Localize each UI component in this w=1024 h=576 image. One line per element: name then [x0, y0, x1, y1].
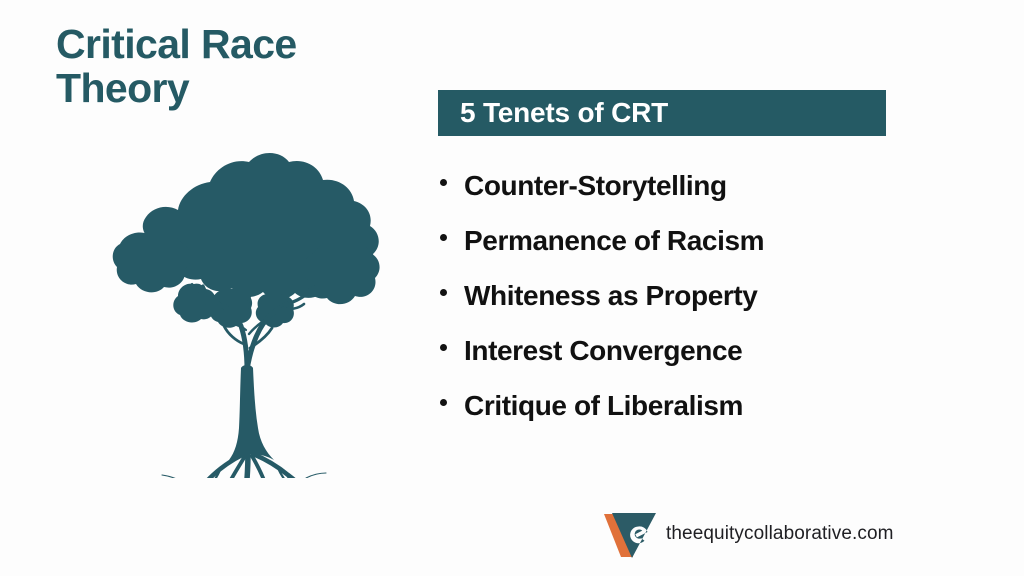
tenets-list: Counter-Storytelling Permanence of Racis…	[440, 158, 940, 433]
tenet-label: Counter-Storytelling	[464, 172, 727, 200]
bullet-icon	[440, 289, 447, 296]
tree-illustration	[108, 138, 383, 478]
tree-trunk-shape	[229, 365, 274, 460]
page-title: Critical Race Theory	[56, 22, 396, 111]
tenet-label: Whiteness as Property	[464, 282, 757, 310]
tree-roots-shape	[130, 450, 372, 478]
list-item: Interest Convergence	[440, 323, 940, 378]
tenet-label: Critique of Liberalism	[464, 392, 743, 420]
tree-canopy-shape	[113, 153, 380, 328]
list-item: Critique of Liberalism	[440, 378, 940, 433]
slide-canvas: Critical Race Theory	[0, 0, 1024, 576]
footer-branding: theequitycollaborative.com	[602, 508, 894, 560]
equity-collaborative-logo-icon	[602, 508, 658, 560]
list-item: Permanence of Racism	[440, 213, 940, 268]
list-item: Counter-Storytelling	[440, 158, 940, 213]
bullet-icon	[440, 344, 447, 351]
tenet-label: Permanence of Racism	[464, 227, 764, 255]
tenet-label: Interest Convergence	[464, 337, 742, 365]
bullet-icon	[440, 234, 447, 241]
bullet-icon	[440, 399, 447, 406]
list-item: Whiteness as Property	[440, 268, 940, 323]
footer-url-text: theequitycollaborative.com	[666, 523, 894, 545]
section-banner: 5 Tenets of CRT	[438, 90, 886, 136]
section-banner-title: 5 Tenets of CRT	[438, 97, 668, 129]
bullet-icon	[440, 179, 447, 186]
